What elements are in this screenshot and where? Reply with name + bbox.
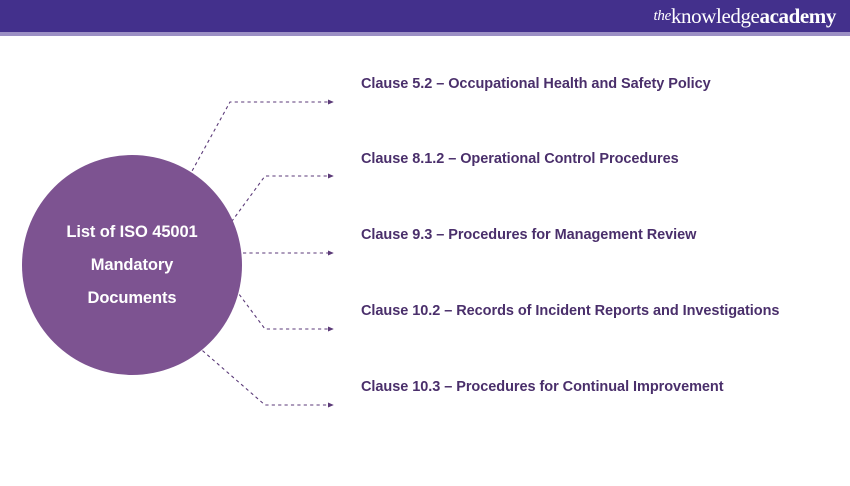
central-node-line-1: List of ISO 45001 [66,216,197,249]
clause-label-5: Clause 10.3 – Procedures for Continual I… [361,380,724,395]
central-node: List of ISO 45001 Mandatory Documents [22,155,242,375]
clause-label-1: Clause 5.2 – Occupational Health and Saf… [361,77,711,92]
central-node-line-2: Mandatory [91,249,174,282]
logo-text-academy: academy [759,4,836,29]
clause-label-3: Clause 9.3 – Procedures for Management R… [361,228,696,243]
connector-line-1 [186,102,333,182]
logo-text-the: the [654,8,671,25]
diagram-canvas: List of ISO 45001 Mandatory Documents Cl… [0,36,850,450]
central-node-line-3: Documents [88,282,177,315]
connector-line-2 [224,176,333,232]
connector-line-5 [188,338,333,405]
clause-label-2: Clause 8.1.2 – Operational Control Proce… [361,152,679,167]
brand-logo: theknowledgeacademy [654,0,837,32]
clause-label-4: Clause 10.2 – Records of Incident Report… [361,304,779,319]
logo-text-knowledge: knowledge [671,4,760,29]
